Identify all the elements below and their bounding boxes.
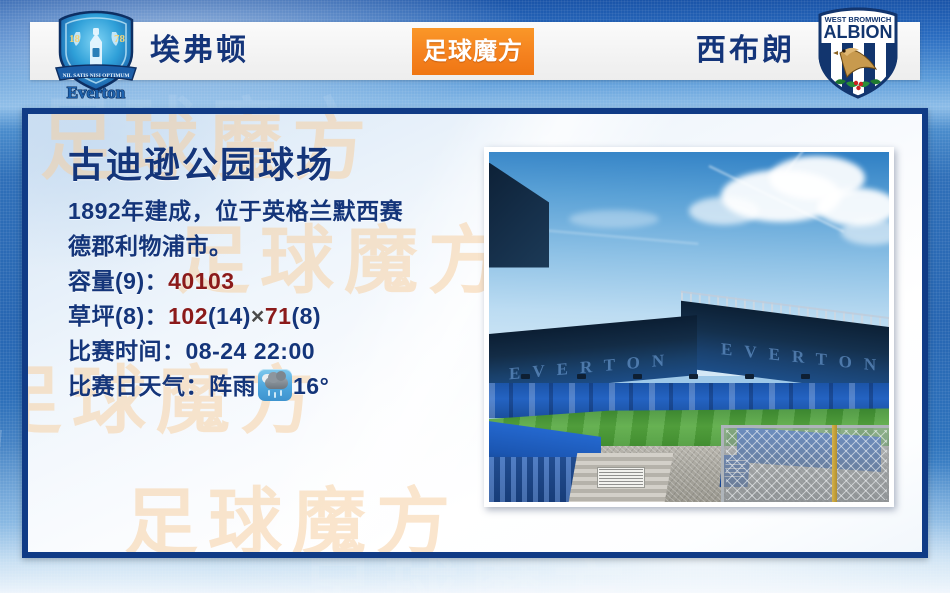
svg-text:18: 18 (69, 33, 81, 45)
stat-row-capacity: 容量(9)：40103 (68, 264, 498, 299)
capacity-value: 40103 (168, 268, 234, 294)
capacity-label: 容量(9) (68, 268, 145, 294)
svg-text:ALBION: ALBION (824, 22, 893, 42)
match-time-label: 比赛时间 (68, 338, 162, 364)
pitch-width-value: 71 (265, 303, 292, 329)
svg-text:Everton: Everton (67, 83, 126, 102)
pitch-length-rating: (14) (208, 303, 251, 329)
away-team-name: 西布朗 (545, 24, 795, 78)
weather-temperature: 16° (293, 373, 329, 399)
background-watermark: 足球魔方 (300, 556, 636, 593)
capacity-separator: ： (145, 268, 169, 294)
home-team-name: 埃弗顿 (150, 24, 400, 78)
match-time-separator: ： (162, 338, 186, 364)
pitch-label: 草坪(8) (68, 303, 145, 329)
photo-mesh-fence (721, 425, 889, 502)
match-time-value: 08-24 22:00 (186, 338, 316, 364)
photo-lower-seats (489, 457, 577, 503)
site-logo-text: 足球魔方 (423, 40, 523, 64)
weather-condition: 阵雨 (209, 373, 256, 399)
weather-separator: ： (186, 373, 210, 399)
pitch-width-rating: (8) (291, 303, 321, 329)
pitch-length-value: 102 (168, 303, 208, 329)
pitch-multiply-sign: × (251, 303, 265, 329)
site-logo-badge: 足球魔方 (412, 28, 534, 75)
stadium-photo: EVERTON EVERTON (489, 152, 889, 502)
stadium-info-block: 古迪逊公园球场 1892年建成，位于英格兰默西赛 德郡利物浦市。 容量(9)：4… (68, 144, 498, 404)
pitch-separator: ： (145, 303, 169, 329)
info-panel: 足球魔方 足球魔方 足球魔方 足球魔方 古迪逊公园球场 1892年建成，位于英格… (22, 108, 928, 558)
stadium-photo-frame: EVERTON EVERTON (484, 147, 894, 507)
stat-row-pitch: 草坪(8)：102(14)×71(8) (68, 299, 498, 334)
stadium-title: 古迪逊公园球场 (68, 144, 498, 186)
poster-stage: 足球魔方 足球魔方 18 78 NIL (0, 0, 950, 593)
svg-text:78: 78 (114, 33, 126, 45)
stadium-description-line-1: 1892年建成，位于英格兰默西赛 (68, 194, 498, 229)
panel-watermark: 足球魔方 (124, 486, 460, 558)
stadium-description-line-2: 德郡利物浦市。 (68, 229, 498, 264)
stat-row-match-time: 比赛时间：08-24 22:00 (68, 334, 498, 369)
weather-label: 比赛日天气 (68, 373, 186, 399)
west-bromwich-albion-crest-icon: WEST BROMWICH ALBION (812, 5, 904, 101)
stat-row-weather: 比赛日天气：阵雨16° (68, 369, 498, 404)
photo-placard (597, 467, 645, 488)
rain-cloud-icon (258, 369, 292, 401)
photo-fence-post (832, 425, 837, 502)
svg-text:NIL SATIS NISI OPTIMUM: NIL SATIS NISI OPTIMUM (63, 73, 130, 79)
everton-crest-icon: 18 78 NIL SATIS NISI OPTIMUM Everton (46, 6, 146, 102)
